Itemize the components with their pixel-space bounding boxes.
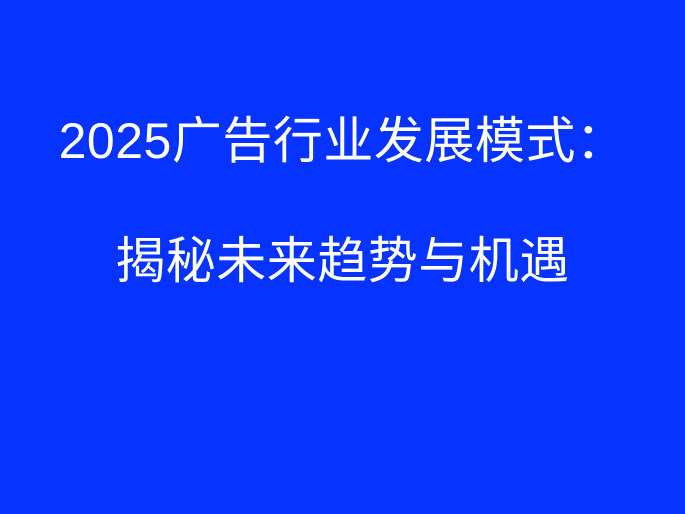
title-line-secondary: 揭秘未来趋势与机遇 bbox=[0, 232, 685, 290]
title-block: 2025广告行业发展模式： 揭秘未来趋势与机遇 bbox=[0, 0, 685, 514]
title-line-spacer bbox=[0, 170, 685, 232]
slide-canvas: 2025广告行业发展模式： 揭秘未来趋势与机遇 bbox=[0, 0, 685, 514]
title-line-primary: 2025广告行业发展模式： bbox=[0, 112, 685, 170]
